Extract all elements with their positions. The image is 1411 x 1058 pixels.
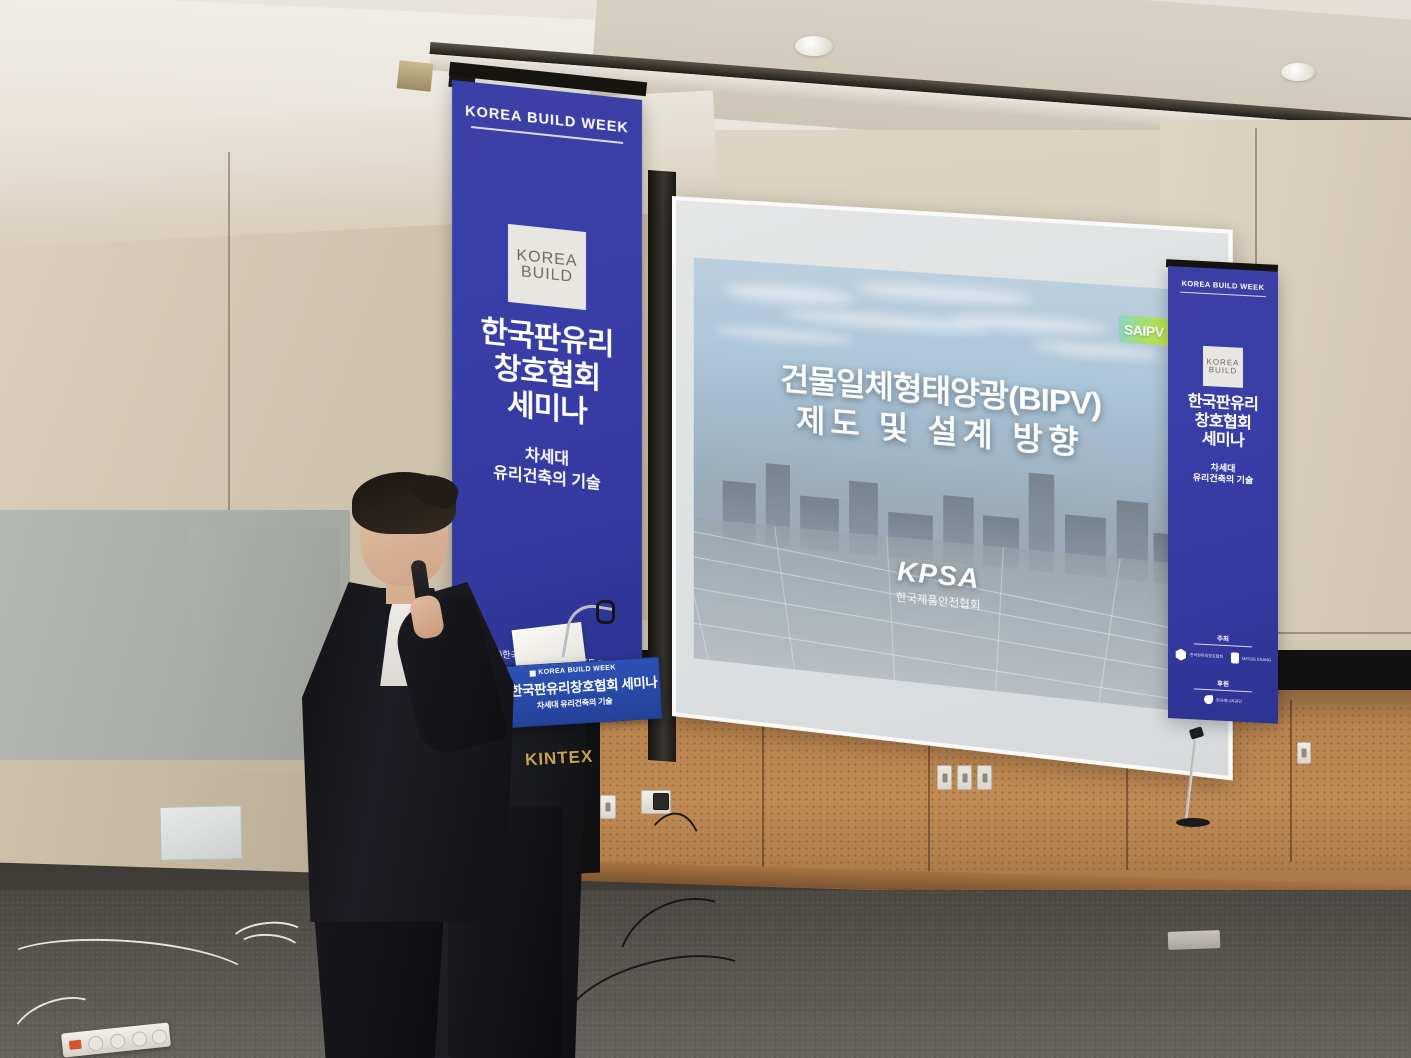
sponsor-logo-1: 한국에너지공단 <box>1204 695 1242 706</box>
power-outlet[interactable] <box>653 793 669 810</box>
projection-screen: SAIPV 건물일체형태양광(BIPV) 제도 및 설계 방향 KPSA 한국제… <box>672 196 1233 781</box>
sponsor-label: 후원 <box>1168 675 1278 691</box>
banner-left-week-label: KOREA BUILD WEEK <box>452 102 642 138</box>
power-socket[interactable] <box>88 1035 104 1051</box>
downlight-icon <box>1281 63 1315 81</box>
organizer-2-name: MESSE ESANG <box>1242 655 1271 662</box>
sponsor-1-name: 한국에너지공단 <box>1216 697 1242 704</box>
wood-seam <box>762 700 764 880</box>
power-socket[interactable] <box>131 1031 147 1047</box>
shield-icon <box>1231 652 1239 663</box>
banner-right-title: 한국판유리 창호협회 세미나 <box>1168 392 1278 453</box>
floor-outlet-plate[interactable] <box>1168 930 1221 950</box>
organizer-1-name: 한국판유리창호협회 <box>1190 652 1223 660</box>
power-outlet[interactable] <box>937 765 952 790</box>
microphone-stand-base <box>1176 818 1210 827</box>
saipv-logo: SAIPV <box>1119 315 1169 346</box>
power-socket[interactable] <box>151 1029 167 1045</box>
power-outlet[interactable] <box>600 795 616 819</box>
power-socket[interactable] <box>109 1033 125 1049</box>
downlight-icon <box>795 36 833 56</box>
organizer-label: 주최 <box>1168 630 1278 646</box>
korea-build-logo-line2: BUILD <box>1209 366 1238 375</box>
organizer-logo-2: MESSE ESANG <box>1231 652 1271 665</box>
banner-right-week-label: KOREA BUILD WEEK <box>1168 278 1278 293</box>
banner-right-subtitle: 차세대 유리건축의 기술 <box>1168 460 1278 489</box>
banner-right: KOREA BUILD WEEK KOREA BUILD 한국판유리 창호협회 … <box>1168 266 1278 724</box>
korea-build-logo-line2: BUILD <box>521 264 573 285</box>
power-outlet[interactable] <box>957 765 972 790</box>
presentation-slide: SAIPV 건물일체형태양광(BIPV) 제도 및 설계 방향 KPSA 한국제… <box>694 257 1195 712</box>
banner-left-title: 한국판유리 창호협회 세미나 <box>452 312 642 436</box>
square-icon <box>529 670 535 676</box>
korea-build-logo: KOREA BUILD <box>508 224 586 310</box>
power-outlet[interactable] <box>1297 742 1311 764</box>
droplet-icon <box>1204 695 1213 704</box>
organizer-logo-1: 한국판유리창호협회 <box>1175 648 1223 663</box>
banner-mount-bracket <box>397 60 434 91</box>
power-outlet[interactable] <box>977 765 992 790</box>
power-switch[interactable] <box>69 1040 82 1050</box>
seminar-photo-scene: SAIPV 건물일체형태양광(BIPV) 제도 및 설계 방향 KPSA 한국제… <box>0 0 1411 1058</box>
gooseneck-mic-head <box>596 600 615 624</box>
wood-seam <box>1290 700 1292 862</box>
wall-notice-card <box>159 805 242 861</box>
banner-left-subtitle: 차세대 유리건축의 기술 <box>452 438 642 500</box>
korea-build-logo: KOREA BUILD <box>1203 346 1243 388</box>
hexagon-icon <box>1175 648 1187 661</box>
